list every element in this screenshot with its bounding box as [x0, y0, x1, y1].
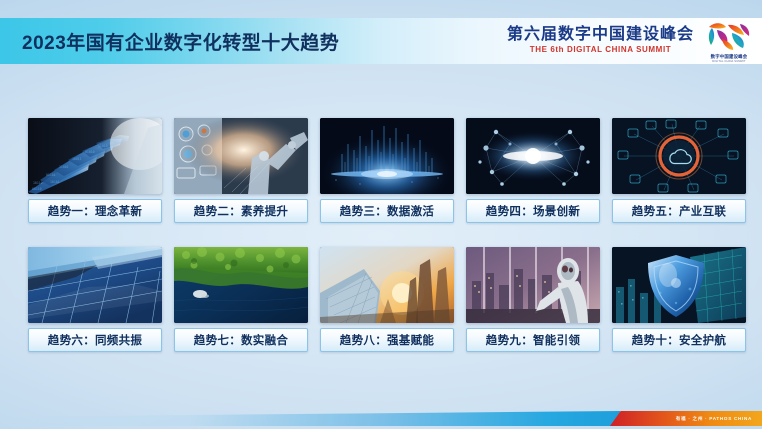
svg-text:00110: 00110	[32, 187, 42, 191]
trend-card-1[interactable]: 1011001101 1100110011 0101011010 0011010…	[28, 118, 162, 223]
svg-text:11010: 11010	[98, 144, 108, 148]
trend-card-4-label: 趋势四：场景创新	[466, 199, 600, 223]
trend-card-5[interactable]: 趋势五：产业互联	[612, 118, 746, 223]
trend-card-1-label: 趋势一：理念革新	[28, 199, 162, 223]
trend-row-2: 趋势六：同频共振	[28, 247, 734, 352]
binary-data-staircase-image: 1011001101 1100110011 0101011010 0011010…	[28, 118, 162, 194]
summit-brand: 第六届数字中国建设峰会 THE 6th DIGITAL CHINA SUMMIT	[507, 18, 756, 64]
svg-text:10110: 10110	[33, 181, 43, 185]
humanoid-robot-city-image	[466, 247, 600, 323]
trend-card-6[interactable]: 趋势六：同频共振	[28, 247, 162, 352]
forest-river-aerial-image	[174, 247, 308, 323]
digital-china-summit-logo: 数字中国建设峰会 DIGITAL CHINA SUMMIT	[702, 19, 756, 63]
svg-text:10011: 10011	[72, 157, 82, 161]
blue-security-shield-image	[612, 247, 746, 323]
footer-orange-ribbon: 有福 · 之州 · PATHOS CHINA	[610, 411, 762, 426]
trend-card-10[interactable]: 趋势十：安全护航	[612, 247, 746, 352]
footer-bar: 有福 · 之州 · PATHOS CHINA	[0, 408, 762, 429]
svg-text:11001: 11001	[59, 165, 69, 169]
slide-canvas: 2023年国有企业数字化转型十大趋势 第六届数字中国建设峰会 THE 6th D…	[0, 0, 762, 429]
robot-arm-control-panel-image	[174, 118, 308, 194]
trend-card-2[interactable]: 趋势二：素养提升	[174, 118, 308, 223]
footer-blue-ribbon	[0, 411, 620, 426]
trend-card-7-label: 趋势七：数实融合	[174, 328, 308, 352]
footer-slogan: 有福 · 之州 · PATHOS CHINA	[676, 416, 752, 422]
logo-caption-en: DIGITAL CHINA SUMMIT	[712, 60, 745, 63]
trend-card-4[interactable]: 趋势四：场景创新	[466, 118, 600, 223]
trend-card-grid: 1011001101 1100110011 0101011010 0011010…	[28, 118, 734, 352]
trend-card-2-label: 趋势二：素养提升	[174, 199, 308, 223]
svg-text:01101: 01101	[46, 173, 56, 177]
cloud-node-network-image	[612, 118, 746, 194]
solar-panel-array-image	[28, 247, 162, 323]
trend-card-3[interactable]: 趋势三：数据激活	[320, 118, 454, 223]
page-title: 2023年国有企业数字化转型十大趋势	[22, 28, 339, 55]
trend-card-8-label: 趋势八：强基赋能	[320, 328, 454, 352]
trend-card-9[interactable]: 趋势九：智能引领	[466, 247, 600, 352]
summit-name-en: THE 6th DIGITAL CHINA SUMMIT	[530, 46, 672, 54]
trend-card-5-label: 趋势五：产业互联	[612, 199, 746, 223]
trend-card-7[interactable]: 趋势七：数实融合	[174, 247, 308, 352]
trend-row-1: 1011001101 1100110011 0101011010 0011010…	[28, 118, 734, 223]
svg-text:10101: 10101	[50, 180, 60, 184]
header-bar: 2023年国有企业数字化转型十大趋势 第六届数字中国建设峰会 THE 6th D…	[0, 18, 762, 64]
trend-card-3-label: 趋势三：数据激活	[320, 199, 454, 223]
blue-data-waveform-image	[320, 118, 454, 194]
light-burst-network-image	[466, 118, 600, 194]
building-sunrise-image	[320, 247, 454, 323]
trend-card-6-label: 趋势六：同频共振	[28, 328, 162, 352]
summit-brand-text: 第六届数字中国建设峰会 THE 6th DIGITAL CHINA SUMMIT	[507, 27, 694, 54]
svg-text:01010: 01010	[85, 150, 95, 154]
trend-card-9-label: 趋势九：智能引领	[466, 328, 600, 352]
summit-name-cn: 第六届数字中国建设峰会	[507, 27, 694, 44]
trend-card-8[interactable]: 趋势八：强基赋能	[320, 247, 454, 352]
trend-card-10-label: 趋势十：安全护航	[612, 328, 746, 352]
